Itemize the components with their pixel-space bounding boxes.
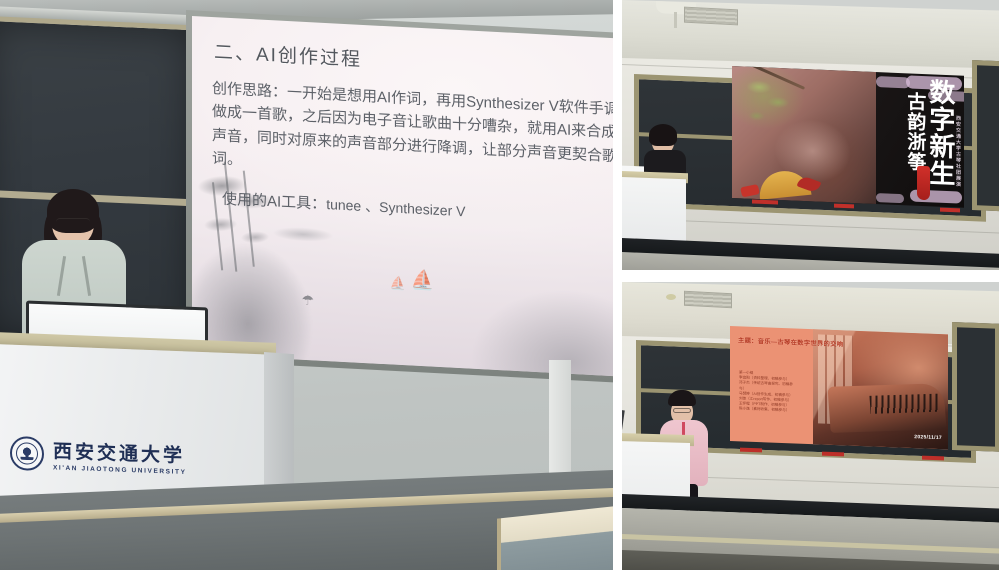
slide-tools-label: 使用的AI工具： (222, 191, 326, 213)
university-seal-icon (10, 435, 44, 470)
panel-lecturer-podium-slide: ⛵ ⛵ ☂ 二、AI创作过程 创作思路：一开始是想用AI作词，再用Synthes… (0, 0, 613, 570)
panel-student-guzheng-slide: 主题：音乐—古琴在数字世界的交响 第一小组 李宜阳（资料整理、初稿参与） 邓子杰… (622, 282, 999, 570)
slide-tools-line: 使用的AI工具：tunee 、Synthesizer V (222, 188, 603, 229)
lamp-stem (674, 12, 677, 28)
chalkboard-right-section (972, 60, 999, 212)
student-glasses (673, 408, 691, 413)
poster-artwork (732, 66, 876, 204)
projection-screen: ⛵ ⛵ ☂ 二、AI创作过程 创作思路：一开始是想用AI作词，再用Synthes… (192, 16, 613, 376)
ceiling-vent (684, 7, 738, 26)
university-name-cn: 西安交通大学 (53, 436, 187, 468)
ceiling-light (666, 294, 676, 300)
ceiling-vent (684, 291, 732, 309)
poster-side-caption: 西安交通大学古琴社团展演 (955, 115, 960, 187)
poster-title-block: 古韵浙筝 数字新生 西安交通大学古琴社团展演 (905, 77, 960, 203)
slide-roster-list: 第一小组 李宜阳（资料整理、初稿参与） 邓子杰（传统古琴曲探究、初稿参 与） 马… (739, 370, 823, 415)
collage-gutter-horizontal (613, 270, 999, 282)
guzheng-strings (869, 394, 940, 415)
poster-seal-icon (917, 166, 930, 201)
poster-branch (740, 66, 805, 90)
collage-gutter-vertical (613, 0, 622, 570)
slide-heading: 二、AI创作过程 (214, 37, 603, 84)
slide-date: 2025/11/17 (914, 434, 942, 441)
poster-title-right: 数字新生 (926, 78, 953, 187)
panel-student-poster-screen: 古韵浙筝 数字新生 西安交通大学古琴社团展演 (622, 0, 999, 270)
slide-content: 二、AI创作过程 创作思路：一开始是想用AI作词，再用Synthesizer V… (192, 16, 613, 376)
chalkboard-right-section (952, 322, 999, 452)
lecturer-glasses (56, 218, 90, 226)
slide-tools-value: tunee 、Synthesizer V (326, 196, 465, 219)
presentation-slide: 主题：音乐—古琴在数字世界的交响 第一小组 李宜阳（资料整理、初稿参与） 邓子杰… (730, 326, 948, 449)
student-cap (668, 390, 696, 406)
university-branding: 西安交通大学 XI'AN JIAOTONG UNIVERSITY (10, 435, 187, 476)
poster-title-left: 古韵浙筝 (905, 91, 924, 172)
poster-screen: 古韵浙筝 数字新生 西安交通大学古琴社团展演 (732, 66, 964, 208)
poster-red-accent-1 (740, 184, 760, 197)
photo-collage: ⛵ ⛵ ☂ 二、AI创作过程 创作思路：一开始是想用AI作词，再用Synthes… (0, 0, 999, 570)
